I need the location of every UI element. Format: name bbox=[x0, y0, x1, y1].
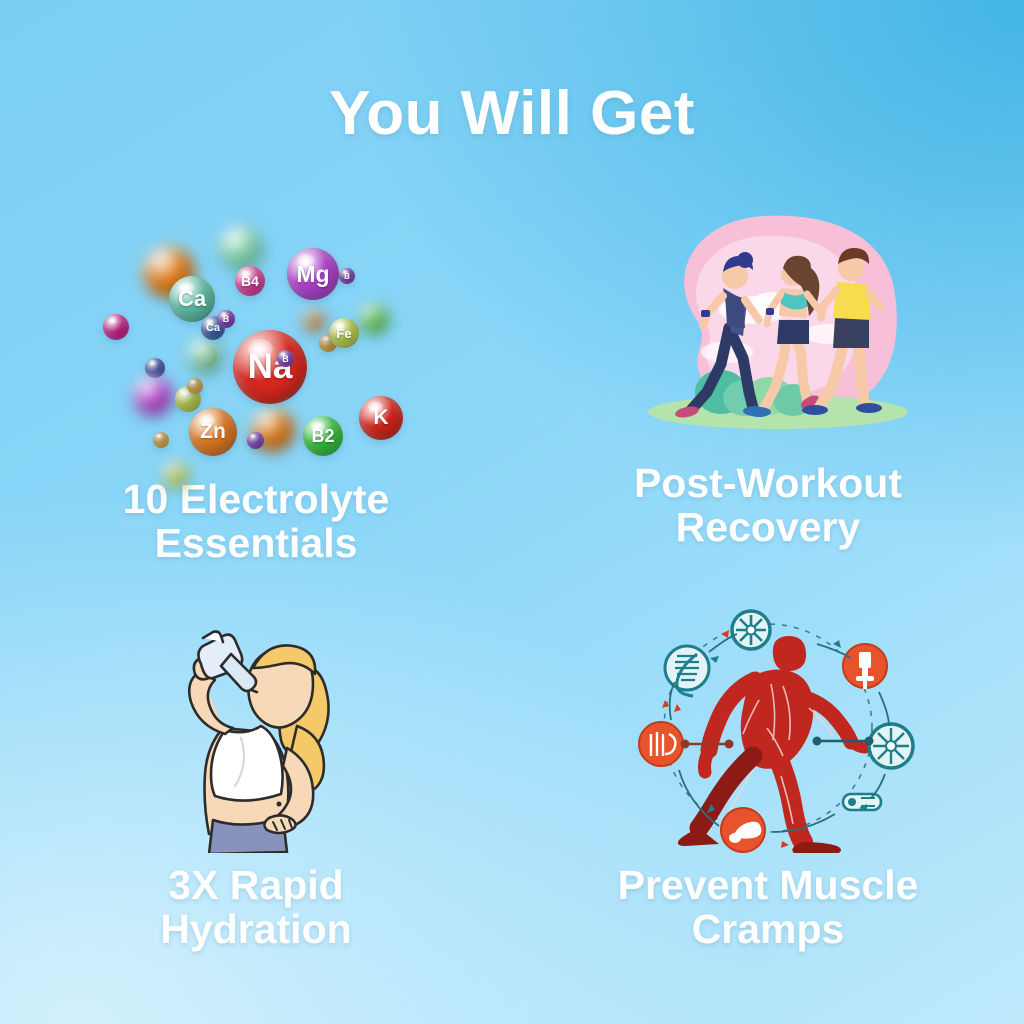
decorative-bubble bbox=[153, 432, 169, 448]
caption-line-1: Prevent Muscle bbox=[618, 863, 919, 907]
feature-caption-electrolytes: 10 Electrolyte Essentials bbox=[123, 477, 390, 566]
feature-grid: CaMgB4CaNaFeKZnB2BBB 10 Electrolyte Esse… bbox=[0, 180, 1024, 1000]
feature-caption-hydration: 3X Rapid Hydration bbox=[160, 863, 351, 952]
runners-illustration-icon bbox=[603, 202, 933, 447]
caption-line-2: Essentials bbox=[123, 521, 390, 565]
decorative-bubble bbox=[187, 378, 203, 394]
muscle-anatomy-diagram-icon bbox=[603, 608, 933, 853]
mineral-bubble-Mg: Mg bbox=[287, 248, 339, 300]
teal-wheel-icon-right bbox=[869, 724, 913, 768]
feature-card-hydration[interactable]: 3X Rapid Hydration bbox=[0, 590, 512, 1000]
decorative-bubble bbox=[133, 376, 173, 416]
mineral-bubble-Ca: Ca bbox=[169, 276, 215, 322]
mineral-bubble-B: B bbox=[217, 310, 235, 328]
hydration-svg bbox=[91, 608, 421, 853]
orange-joint-icon bbox=[721, 808, 765, 852]
decorative-bubble bbox=[359, 304, 389, 334]
decorative-bubble bbox=[163, 462, 189, 488]
caption-line-2: Hydration bbox=[160, 907, 351, 951]
poster-root: You Will Get CaMgB4CaNaFeKZnB2BBB 10 Ele… bbox=[0, 0, 1024, 1024]
decorative-bubble bbox=[103, 314, 129, 340]
mineral-bubbles-icon: CaMgB4CaNaFeKZnB2BBB bbox=[91, 218, 421, 463]
feature-card-electrolytes[interactable]: CaMgB4CaNaFeKZnB2BBB 10 Electrolyte Esse… bbox=[0, 180, 512, 590]
decorative-bubble bbox=[303, 310, 325, 332]
decorative-bubble bbox=[145, 358, 165, 378]
feature-card-cramps[interactable]: Prevent Muscle Cramps bbox=[512, 590, 1024, 1000]
decorative-bubble bbox=[187, 338, 223, 374]
caption-line-2: Cramps bbox=[618, 907, 919, 951]
caption-line-1: 10 Electrolyte bbox=[123, 477, 390, 521]
mineral-bubble-B4: B4 bbox=[235, 266, 265, 296]
mineral-bubble-B2: B2 bbox=[303, 416, 343, 456]
caption-line-2: Recovery bbox=[634, 505, 902, 549]
mineral-bubble-K: K bbox=[359, 396, 403, 440]
mineral-bubble-B: B bbox=[339, 268, 355, 284]
feature-card-recovery[interactable]: Post-Workout Recovery bbox=[512, 180, 1024, 590]
orange-fibre-icon bbox=[639, 722, 683, 766]
feature-caption-recovery: Post-Workout Recovery bbox=[634, 461, 902, 550]
decorative-bubble bbox=[219, 226, 263, 270]
muscle-svg bbox=[603, 608, 933, 853]
mineral-bubble-Fe: Fe bbox=[329, 318, 359, 348]
woman-drinking-water-icon bbox=[91, 608, 421, 853]
orange-iv-icon bbox=[843, 644, 887, 689]
decorative-bubble bbox=[247, 432, 264, 449]
caption-line-1: Post-Workout bbox=[634, 461, 902, 505]
mineral-bubble-Zn: Zn bbox=[189, 408, 237, 456]
mineral-bubble-Na: Na bbox=[233, 330, 307, 404]
feature-caption-cramps: Prevent Muscle Cramps bbox=[618, 863, 919, 952]
runners-svg bbox=[603, 202, 933, 447]
caption-line-1: 3X Rapid bbox=[160, 863, 351, 907]
teal-wheel-icon-top bbox=[732, 611, 770, 649]
page-title: You Will Get bbox=[0, 78, 1024, 149]
mineral-bubble-B: B bbox=[277, 350, 294, 367]
